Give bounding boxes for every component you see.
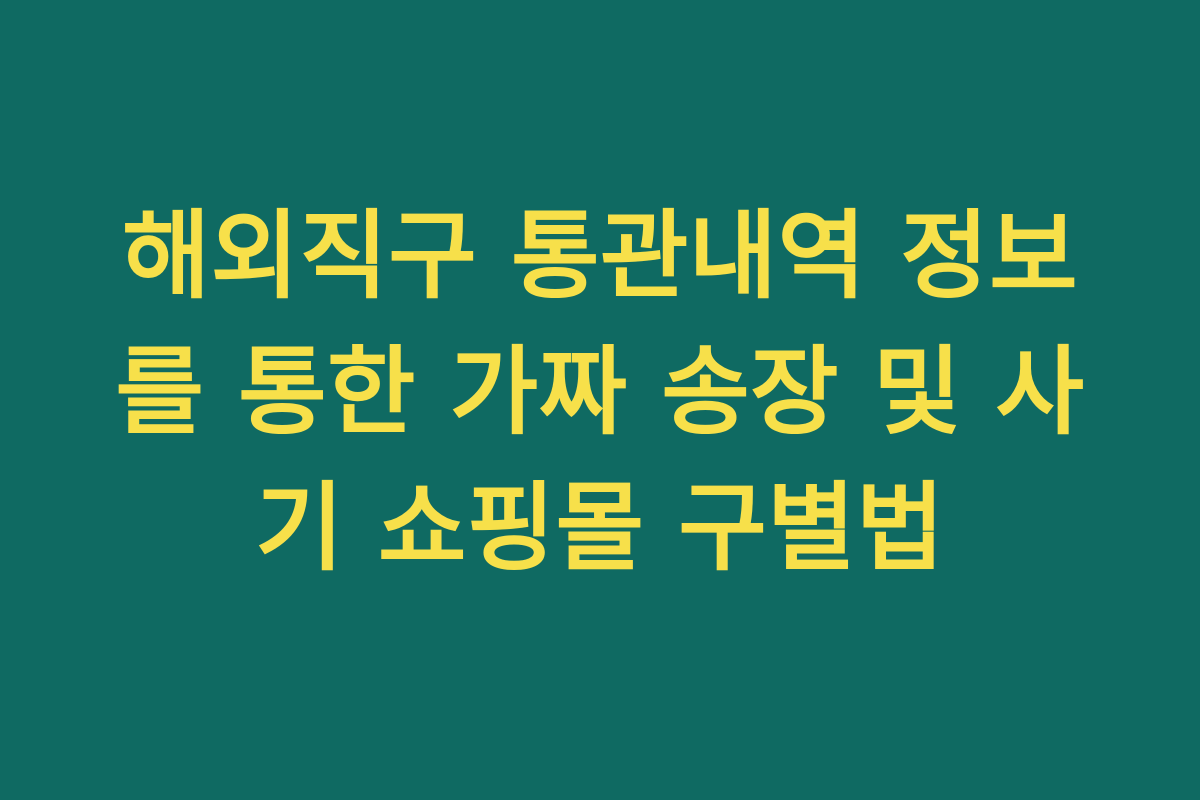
title-line-3: 기 쇼핑몰 구별법 — [80, 460, 1120, 596]
title-line-1: 해외직구 통관내역 정보 — [80, 188, 1120, 324]
title-line-2: 를 통한 가짜 송장 및 사 — [80, 324, 1120, 460]
banner-title: 해외직구 통관내역 정보 를 통한 가짜 송장 및 사 기 쇼핑몰 구별법 — [80, 188, 1120, 596]
banner-canvas: 해외직구 통관내역 정보 를 통한 가짜 송장 및 사 기 쇼핑몰 구별법 — [0, 0, 1200, 800]
